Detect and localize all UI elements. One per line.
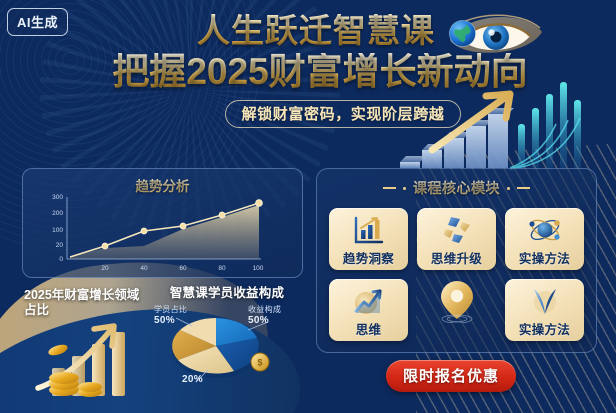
globe-icon [448, 19, 477, 48]
abstract-shapes-icon [441, 213, 473, 247]
trend-analysis-panel: 趋势分析 300 200 100 20 0 20 40 [22, 168, 303, 278]
core-modules-panel: 课程核心模块 趋势洞察 [316, 168, 597, 353]
x-tick-60: 60 [179, 265, 187, 272]
module-card-label: 趋势洞察 [343, 248, 394, 267]
module-card-mindset-upgrade[interactable]: 思维升级 [417, 208, 496, 270]
module-card-thinking[interactable]: 思维 [329, 279, 408, 341]
svg-text:$: $ [257, 358, 262, 368]
pie-label-left-caption: 学员占比 [154, 305, 187, 314]
ai-generated-badge: AI生成 [7, 8, 68, 36]
y-tick-20: 20 [56, 242, 64, 249]
modules-grid-row2: 思维 [317, 270, 596, 341]
pie-label-bottom-value: 20% [182, 374, 203, 385]
x-tick-20: 20 [101, 265, 109, 272]
module-card-label: 实操方法 [519, 319, 570, 338]
module-card-label: 实操方法 [519, 248, 570, 267]
pie-label-right-value: 50% [248, 315, 281, 326]
location-pin-cell [417, 279, 496, 341]
pie-label-left-value: 50% [154, 315, 187, 326]
x-tick-80: 80 [218, 265, 226, 272]
pie-label-bottom: 20% [182, 374, 203, 385]
dash-right-decoration [517, 187, 530, 189]
y-tick-0: 0 [59, 256, 63, 263]
earnings-composition-block: 智慧课学员收益构成 $ [152, 282, 302, 392]
page-title-line2: 把握2025财富增长新动向 [0, 53, 616, 91]
module-card-label: 思维升级 [431, 248, 482, 267]
y-tick-100: 100 [52, 227, 63, 234]
core-modules-title: 课程核心模块 [413, 178, 500, 198]
line-chart-arrow-icon [353, 284, 385, 318]
left-caption-text: 2025年财富增长领域占比 [24, 288, 150, 318]
trend-line-chart: 300 200 100 20 0 20 40 60 80 100 [23, 191, 304, 279]
page-title-line1: 人生跃迁智慧课 [0, 14, 616, 48]
location-pin-icon [439, 284, 475, 318]
atom-network-icon [528, 213, 562, 247]
pie-label-right-caption: 收益构成 [248, 305, 281, 314]
module-card-practical-method-2[interactable]: 实操方法 [505, 279, 584, 341]
headline-block: 人生跃迁智慧课 把握2025财富增长新动向 解锁财富密码，实现阶层跨越 [0, 14, 616, 128]
bar-chart-growth-icon [353, 213, 385, 247]
subtitle-pill: 解锁财富密码，实现阶层跨越 [225, 100, 462, 128]
y-tick-300: 300 [52, 194, 63, 201]
dash-left-decoration [383, 187, 396, 189]
module-card-trend-insight[interactable]: 趋势洞察 [329, 208, 408, 270]
module-card-practical-method[interactable]: 实操方法 [505, 208, 584, 270]
dot-left-decoration [403, 187, 406, 190]
x-tick-100: 100 [253, 265, 264, 272]
pie-label-left: 学员占比 50% [154, 304, 187, 326]
dot-right-decoration [507, 187, 510, 190]
pie-label-right: 收益构成 50% [248, 304, 281, 326]
y-tick-200: 200 [52, 210, 63, 217]
cta-button[interactable]: 限时报名优惠 [386, 360, 516, 392]
title-line1-text: 人生跃迁智慧课 [197, 12, 435, 49]
poster-canvas: AI生成 人生跃迁智慧课 [0, 0, 616, 413]
module-card-label: 思维 [356, 319, 382, 338]
x-tick-40: 40 [140, 265, 148, 272]
gold-coins-bar-chart-icon [28, 318, 160, 398]
checkmark-leaf-icon [528, 284, 562, 318]
core-modules-title-row: 课程核心模块 [317, 178, 596, 198]
modules-grid-row1: 趋势洞察 思维升级 [317, 198, 596, 270]
